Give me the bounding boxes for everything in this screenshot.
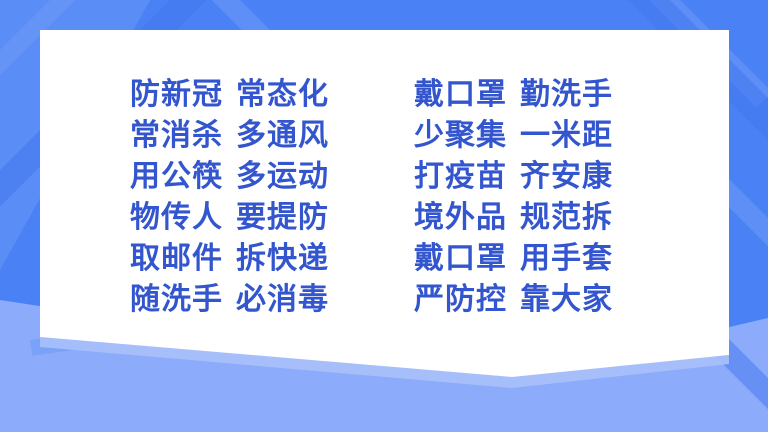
slogan-row-right-6: 严防控 靠大家 (414, 285, 646, 315)
slogan-phrase: 多运动 (236, 162, 329, 192)
slogan-row-right-5: 戴口罩 用手套 (414, 244, 646, 274)
slogan-phrase: 拆快递 (236, 244, 329, 274)
slogan-phrase: 打疫苗 (414, 162, 507, 192)
slogan-phrase: 用公筷 (130, 162, 223, 192)
slogan-phrase: 戴口罩 (414, 80, 507, 110)
slogan-row-left-5: 取邮件 拆快递 (130, 244, 362, 274)
slogan-phrase: 用手套 (520, 244, 613, 274)
slogan-phrase: 境外品 (414, 203, 507, 233)
slogan-phrase: 戴口罩 (414, 244, 507, 274)
slogan-phrase: 常消杀 (130, 121, 223, 151)
slogan-row-right-1: 戴口罩 勤洗手 (414, 80, 646, 110)
slogan-phrase: 常态化 (236, 80, 329, 110)
slogan-row-right-3: 打疫苗 齐安康 (414, 162, 646, 192)
slogan-phrase: 齐安康 (520, 162, 613, 192)
slogan-phrase: 靠大家 (520, 285, 613, 315)
slogan-phrase: 勤洗手 (520, 80, 613, 110)
slogan-phrase: 严防控 (414, 285, 507, 315)
slogan-phrase: 物传人 (130, 203, 223, 233)
slogan-phrase: 随洗手 (130, 285, 223, 315)
slogan-grid: 防新冠 常态化 戴口罩 勤洗手 常消杀 多通风 少聚集 一米距 用公筷 多运动 … (130, 74, 650, 320)
slogan-phrase: 取邮件 (130, 244, 223, 274)
slogan-row-left-2: 常消杀 多通风 (130, 121, 362, 151)
slogan-phrase: 少聚集 (414, 121, 507, 151)
slogan-row-right-4: 境外品 规范拆 (414, 203, 646, 233)
poster-canvas: 防新冠 常态化 戴口罩 勤洗手 常消杀 多通风 少聚集 一米距 用公筷 多运动 … (0, 0, 768, 432)
slogan-row-left-4: 物传人 要提防 (130, 203, 362, 233)
slogan-row-left-6: 随洗手 必消毒 (130, 285, 362, 315)
slogan-row-left-1: 防新冠 常态化 (130, 80, 362, 110)
slogan-phrase: 规范拆 (520, 203, 613, 233)
slogan-phrase: 必消毒 (236, 285, 329, 315)
slogan-phrase: 要提防 (236, 203, 329, 233)
slogan-phrase: 多通风 (236, 121, 329, 151)
slogan-phrase: 一米距 (520, 121, 613, 151)
slogan-row-right-2: 少聚集 一米距 (414, 121, 646, 151)
slogan-phrase: 防新冠 (130, 80, 223, 110)
slogan-row-left-3: 用公筷 多运动 (130, 162, 362, 192)
